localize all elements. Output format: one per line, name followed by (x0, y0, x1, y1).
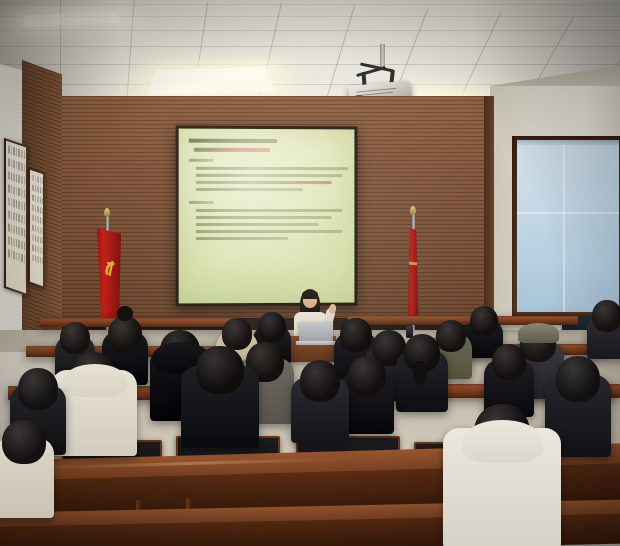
calligraphy-stroke (24, 242, 26, 251)
slide-heading (189, 139, 278, 143)
calligraphy-stroke (35, 175, 37, 182)
calligraphy-stroke (32, 244, 34, 251)
window-frame (512, 136, 620, 316)
slide-text-line (196, 166, 349, 169)
slide-text-line (196, 208, 343, 211)
calligraphy-stroke (8, 223, 10, 232)
calligraphy-stroke (18, 201, 20, 210)
calligraphy-stroke (42, 208, 43, 215)
calligraphy-stroke (24, 203, 26, 212)
calligraphy-stroke (37, 176, 39, 183)
calligraphy-stroke (42, 238, 43, 245)
calligraphy-stroke (32, 184, 34, 191)
calligraphy-stroke (18, 175, 20, 184)
calligraphy-stroke (32, 204, 34, 211)
slide-subheading (194, 148, 270, 152)
slide-paragraph-1 (189, 166, 347, 190)
flag-tie-gold (409, 262, 417, 266)
calligraphy-stroke (21, 176, 23, 185)
calligraphy-stroke (42, 258, 43, 265)
calligraphy-stroke (8, 197, 10, 206)
calligraphy-stroke (21, 150, 23, 159)
slide-content (189, 139, 347, 244)
hair-bun (117, 306, 132, 320)
calligraphy-stroke (40, 217, 42, 224)
calligraphy-stroke (40, 207, 42, 214)
calligraphy-stroke (37, 206, 39, 213)
calligraphy-stroke (16, 252, 18, 261)
person-head (470, 306, 498, 336)
calligraphy-stroke (18, 188, 20, 197)
calligraphy-stroke (32, 214, 34, 221)
calligraphy-stroke (37, 186, 39, 193)
baseball-cap (518, 323, 559, 344)
calligraphy-stroke (40, 197, 42, 204)
calligraphy-stroke (35, 245, 37, 252)
roller-blind[interactable] (517, 140, 619, 312)
person-head (222, 318, 252, 350)
calligraphy-stroke (32, 254, 34, 261)
calligraphy-stroke (21, 254, 23, 263)
party-flag-finial (104, 208, 110, 217)
calligraphy-scroll-2 (28, 167, 45, 289)
calligraphy-stroke (42, 248, 43, 255)
calligraphy-stroke (11, 224, 13, 233)
person-hood (63, 364, 127, 397)
calligraphy-stroke (13, 173, 15, 182)
calligraphy-stroke (13, 147, 15, 156)
calligraphy-stroke (16, 148, 18, 157)
calligraphy-stroke (16, 239, 18, 248)
slide-text-line (196, 215, 332, 218)
calligraphy-stroke (16, 161, 18, 170)
slide-section-1 (189, 158, 214, 161)
calligraphy-stroke (37, 256, 39, 263)
slide-text-line (196, 173, 343, 176)
calligraphy-stroke (24, 229, 26, 238)
calligraphy-stroke (8, 171, 10, 180)
ceiling-panel-light-left (148, 67, 274, 94)
classroom-photo (0, 0, 620, 546)
person-head (436, 320, 466, 352)
calligraphy-stroke (35, 225, 37, 232)
calligraphy-stroke (11, 198, 13, 207)
person-head (348, 356, 386, 396)
calligraphy-stroke (40, 257, 42, 264)
calligraphy-stroke (42, 198, 43, 205)
calligraphy-stroke (13, 160, 15, 169)
person-head (492, 344, 526, 380)
calligraphy-stroke (13, 199, 15, 208)
slide-text-line (196, 229, 343, 232)
calligraphy-stroke (18, 149, 20, 158)
calligraphy-stroke (8, 236, 10, 245)
calligraphy-stroke (24, 151, 26, 160)
calligraphy-stroke (24, 255, 26, 264)
slide-paragraph-2 (189, 208, 347, 239)
calligraphy-stroke (35, 205, 37, 212)
projection-screen (179, 129, 355, 304)
calligraphy-stroke (42, 188, 43, 195)
calligraphy-stroke (37, 236, 39, 243)
person-head (592, 300, 620, 332)
calligraphy-stroke (11, 146, 13, 155)
calligraphy-stroke (42, 218, 43, 225)
calligraphy-stroke (8, 158, 10, 167)
calligraphy-stroke (24, 177, 26, 186)
presenter-hair-fringe (302, 290, 318, 299)
calligraphy-stroke (13, 225, 15, 234)
calligraphy-stroke (32, 194, 34, 201)
presenter-laptop-base (296, 341, 336, 345)
calligraphy-stroke (21, 163, 23, 172)
calligraphy-stroke (32, 234, 34, 241)
person-head (196, 346, 244, 394)
calligraphy-stroke (11, 172, 13, 181)
person-head (556, 356, 600, 402)
calligraphy-stroke (11, 250, 13, 259)
calligraphy-stroke (37, 216, 39, 223)
projection-screen-frame (176, 126, 358, 307)
slide-text-line (196, 187, 304, 190)
calligraphy-stroke (35, 185, 37, 192)
calligraphy-stroke (16, 174, 18, 183)
calligraphy-stroke (18, 253, 20, 262)
calligraphy-stroke (21, 241, 23, 250)
calligraphy-stroke (42, 178, 43, 185)
calligraphy-stroke (11, 211, 13, 220)
calligraphy-stroke (8, 210, 10, 219)
calligraphy-stroke (18, 214, 20, 223)
calligraphy-stroke (11, 237, 13, 246)
calligraphy-stroke (16, 200, 18, 209)
calligraphy-stroke (35, 255, 37, 262)
calligraphy-stroke (40, 177, 42, 184)
person-head (2, 420, 46, 464)
calligraphy-stroke (21, 202, 23, 211)
calligraphy-stroke (40, 237, 42, 244)
slide-text-line (196, 222, 319, 225)
calligraphy-stroke (24, 190, 26, 199)
slide-text-line (196, 236, 288, 239)
calligraphy-stroke (13, 186, 15, 195)
calligraphy-stroke (18, 227, 20, 236)
calligraphy-stroke (16, 213, 18, 222)
calligraphy-stroke (16, 226, 18, 235)
calligraphy-stroke (40, 227, 42, 234)
hammer-and-sickle-emblem (103, 258, 118, 278)
calligraphy-stroke (37, 226, 39, 233)
calligraphy-stroke (21, 215, 23, 224)
calligraphy-stroke (37, 246, 39, 253)
calligraphy-stroke (21, 189, 23, 198)
calligraphy-stroke (24, 164, 26, 173)
calligraphy-stroke (35, 215, 37, 222)
person-head (300, 360, 340, 402)
calligraphy-stroke (16, 187, 18, 196)
calligraphy-stroke (40, 187, 42, 194)
calligraphy-stroke (8, 145, 10, 154)
calligraphy-stroke (13, 238, 15, 247)
calligraphy-stroke (42, 228, 43, 235)
person-head (340, 318, 372, 352)
calligraphy-stroke (32, 174, 34, 181)
calligraphy-stroke (8, 184, 10, 193)
red-flag-finial (410, 206, 416, 215)
calligraphy-stroke (21, 228, 23, 237)
calligraphy-stroke (24, 216, 26, 225)
person-head (258, 312, 286, 342)
person-hood (462, 420, 543, 464)
person-head (18, 368, 58, 410)
slide-section-2 (189, 200, 214, 203)
calligraphy-stroke (18, 162, 20, 171)
calligraphy-stroke (35, 195, 37, 202)
person-head (108, 316, 142, 352)
person-head (60, 322, 90, 354)
calligraphy-stroke (13, 212, 15, 221)
calligraphy-stroke (40, 247, 42, 254)
calligraphy-stroke (18, 240, 20, 249)
calligraphy-stroke (32, 224, 34, 231)
calligraphy-stroke (35, 235, 37, 242)
blind-highlight (517, 140, 619, 312)
calligraphy-stroke (11, 159, 13, 168)
calligraphy-scroll-1 (4, 138, 28, 296)
calligraphy-stroke (8, 249, 10, 258)
presenter-laptop-screen (299, 322, 333, 342)
calligraphy-stroke (11, 185, 13, 194)
calligraphy-stroke (13, 251, 15, 260)
calligraphy-stroke (37, 196, 39, 203)
slide-text-line (196, 180, 332, 183)
